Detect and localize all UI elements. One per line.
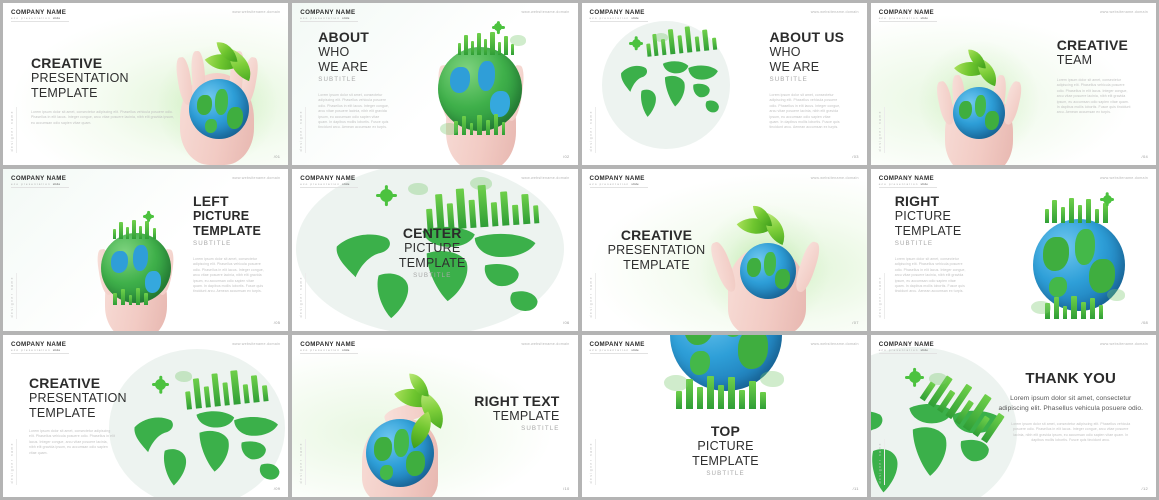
- subtitle: SUBTITLE: [318, 75, 428, 85]
- side-divider: [884, 273, 885, 319]
- designer-label: designer name: [299, 442, 303, 483]
- skyline-bars: [1043, 197, 1119, 223]
- sun-icon: [155, 379, 166, 390]
- designer-label: designer name: [878, 442, 882, 483]
- website-url[interactable]: www.websitename.domain: [1100, 342, 1148, 346]
- website-url[interactable]: www.websitename.domain: [521, 176, 569, 180]
- sun-icon: [1103, 195, 1112, 204]
- designer-label: designer name: [299, 110, 303, 151]
- website-url[interactable]: www.websitename.domain: [521, 342, 569, 346]
- header-divider: [11, 187, 69, 188]
- headline-tertiary: TEMPLATE: [604, 258, 710, 273]
- page-number: /11: [853, 486, 859, 491]
- headline-secondary: PICTURE: [895, 209, 991, 224]
- headline-secondary: PRESENTATION: [604, 243, 710, 258]
- side-divider: [595, 107, 596, 153]
- designer-label: designer name: [878, 276, 882, 317]
- subtitle: SUBTITLE: [895, 239, 991, 249]
- side-divider: [16, 273, 17, 319]
- page-number: /05: [274, 320, 280, 325]
- body-text: Lorem ipsum dolor sit amet, consectetur …: [29, 429, 115, 456]
- header-divider: [590, 187, 648, 188]
- headline-primary: THANK YOU: [995, 371, 1147, 387]
- headline-tertiary: TEMPLATE: [895, 224, 991, 239]
- page-number: /06: [563, 320, 569, 325]
- website-url[interactable]: www.websitename.domain: [1100, 10, 1148, 14]
- designer-label: designer name: [10, 276, 14, 317]
- page-number: /12: [1142, 486, 1148, 491]
- side-divider: [884, 107, 885, 153]
- header-divider: [879, 187, 937, 188]
- header-divider: [11, 21, 69, 22]
- slide-header: COMPANY NAME eco presentation slide www.…: [590, 175, 859, 188]
- designer-label: designer name: [589, 110, 593, 151]
- side-divider: [16, 439, 17, 485]
- slide-header: COMPANY NAME eco presentation slide www.…: [300, 175, 569, 188]
- slide-deck: COMPANY NAME eco presentation slide www.…: [0, 0, 1159, 500]
- page-number: /07: [852, 320, 858, 325]
- website-url[interactable]: www.websitename.domain: [521, 10, 569, 14]
- slide-04[interactable]: COMPANY NAME eco presentation slide www.…: [871, 3, 1156, 165]
- page-number: /10: [563, 486, 569, 491]
- header-divider: [879, 353, 937, 354]
- header-divider: [11, 353, 69, 354]
- body-text: Lorem ipsum dolor sit amet, consectetur …: [193, 257, 265, 295]
- header-divider: [879, 21, 937, 22]
- headline-secondary: TEAM: [1057, 53, 1155, 68]
- page-number: /01: [274, 154, 280, 159]
- headline-primary: RIGHT: [895, 193, 991, 209]
- slide-header: COMPANY NAME eco presentation slide www.…: [879, 341, 1148, 354]
- header-divider: [300, 187, 358, 188]
- headline-secondary: WHO: [318, 45, 428, 60]
- slide-09[interactable]: COMPANY NAME eco presentation slide www.…: [3, 335, 288, 497]
- headline-tertiary: TEMPLATE: [370, 256, 494, 271]
- green-blue-globe-illustration: [1011, 189, 1143, 329]
- slide-10[interactable]: COMPANY NAME eco presentation slide www.…: [292, 335, 577, 497]
- designer-label: designer name: [878, 110, 882, 151]
- website-url[interactable]: www.websitename.domain: [811, 10, 859, 14]
- slide-header: COMPANY NAME eco presentation slide www.…: [11, 9, 280, 22]
- slide-header: COMPANY NAME eco presentation slide www.…: [590, 341, 859, 354]
- side-divider: [305, 107, 306, 153]
- subtitle: SUBTITLE: [370, 271, 494, 281]
- slide-header: COMPANY NAME eco presentation slide www.…: [879, 9, 1148, 22]
- designer-label: designer name: [10, 442, 14, 483]
- website-url[interactable]: www.websitename.domain: [811, 176, 859, 180]
- skyline-bars: [674, 375, 778, 409]
- headline-primary: CREATIVE: [31, 55, 191, 71]
- designer-label: designer name: [589, 276, 593, 317]
- headline-primary: TOP: [654, 423, 798, 439]
- side-divider: [16, 107, 17, 153]
- headline-tertiary: TEMPLATE: [193, 224, 287, 239]
- headline-secondary: PICTURE: [370, 241, 494, 256]
- subtitle: SUBTITLE: [770, 75, 866, 85]
- headline-tertiary: TEMPLATE: [654, 454, 798, 469]
- body-text: Lorem ipsum dolor sit amet, consectetur …: [31, 110, 179, 126]
- body-text: Lorem ipsum dolor sit amet, consectetur …: [1057, 78, 1131, 116]
- headline-primary: CREATIVE: [29, 375, 133, 391]
- slide-02[interactable]: COMPANY NAME eco presentation slide www.…: [292, 3, 577, 165]
- headline-secondary: PRESENTATION: [29, 391, 133, 406]
- header-divider: [300, 353, 358, 354]
- body-text: Lorem ipsum dolor sit amet, consectetur …: [995, 422, 1147, 444]
- slide-header: COMPANY NAME eco presentation slide www.…: [11, 341, 280, 354]
- body-text: Lorem ipsum dolor sit amet, consectetur …: [770, 93, 842, 131]
- slide-01[interactable]: COMPANY NAME eco presentation slide www.…: [3, 3, 288, 165]
- headline-secondary: PICTURE: [193, 209, 287, 224]
- slide-06[interactable]: COMPANY NAME eco presentation slide www.…: [292, 169, 577, 331]
- headline-primary: RIGHT TEXT: [442, 393, 560, 409]
- headline-secondary: WHO: [770, 45, 866, 60]
- slide-header: COMPANY NAME eco presentation slide www.…: [300, 341, 569, 354]
- designer-label: designer name: [10, 110, 14, 151]
- sun-icon: [632, 39, 641, 48]
- headline-primary: LEFT: [193, 193, 287, 209]
- side-divider: [595, 439, 596, 485]
- headline-primary: CENTER: [370, 225, 494, 241]
- slide-11[interactable]: COMPANY NAME eco presentation slide www.…: [582, 335, 867, 497]
- headline-primary: ABOUT: [318, 29, 428, 45]
- headline-secondary: PRESENTATION TEMPLATE: [31, 71, 191, 101]
- slide-header: COMPANY NAME eco presentation slide www.…: [11, 175, 280, 188]
- headline-primary: ABOUT US: [770, 29, 866, 45]
- headline-tertiary: TEMPLATE: [29, 406, 133, 421]
- slide-03[interactable]: COMPANY NAME eco presentation slide www.…: [582, 3, 867, 165]
- side-divider: [595, 273, 596, 319]
- headline-tertiary: WE ARE: [318, 60, 428, 75]
- page-number: /08: [1142, 320, 1148, 325]
- subtitle: SUBTITLE: [193, 239, 287, 249]
- headline-primary: CREATIVE: [604, 227, 710, 243]
- slide-05[interactable]: COMPANY NAME eco presentation slide www.…: [3, 169, 288, 331]
- page-number: /03: [852, 154, 858, 159]
- slide-07[interactable]: COMPANY NAME eco presentation slide www.…: [582, 169, 867, 331]
- website-url[interactable]: www.websitename.domain: [811, 342, 859, 346]
- page-number: /02: [563, 154, 569, 159]
- header-divider: [590, 353, 648, 354]
- side-divider: [305, 273, 306, 319]
- headline-primary: CREATIVE: [1057, 37, 1155, 53]
- website-url[interactable]: www.websitename.domain: [232, 342, 280, 346]
- header-divider: [300, 21, 358, 22]
- subtitle: SUBTITLE: [654, 469, 798, 479]
- designer-label: designer name: [299, 276, 303, 317]
- side-divider: [305, 439, 306, 485]
- designer-label: designer name: [589, 442, 593, 483]
- header-divider: [590, 21, 648, 22]
- headline-secondary: PICTURE: [654, 439, 798, 454]
- sun-icon: [909, 371, 921, 383]
- body-text: Lorem ipsum dolor sit amet, consectetur …: [318, 93, 390, 131]
- headline-tertiary: WE ARE: [770, 60, 866, 75]
- page-number: /04: [1142, 154, 1148, 159]
- headline-secondary: TEMPLATE: [442, 409, 560, 424]
- slide-08[interactable]: COMPANY NAME eco presentation slide www.…: [871, 169, 1156, 331]
- slide-header: COMPANY NAME eco presentation slide www.…: [879, 175, 1148, 188]
- lead-paragraph: Lorem ipsum dolor sit amet, consectetur …: [995, 394, 1147, 413]
- slide-header: COMPANY NAME eco presentation slide www.…: [590, 9, 859, 22]
- slide-header: COMPANY NAME eco presentation slide www.…: [300, 9, 569, 22]
- website-url[interactable]: www.websitename.domain: [232, 10, 280, 14]
- slide-12[interactable]: COMPANY NAME eco presentation slide www.…: [871, 335, 1156, 497]
- subtitle: SUBTITLE: [442, 424, 560, 434]
- side-divider: [884, 439, 885, 485]
- website-url[interactable]: www.websitename.domain: [1100, 176, 1148, 180]
- page-number: /09: [274, 486, 280, 491]
- website-url[interactable]: www.websitename.domain: [232, 176, 280, 180]
- body-text: Lorem ipsum dolor sit amet, consectetur …: [895, 257, 967, 295]
